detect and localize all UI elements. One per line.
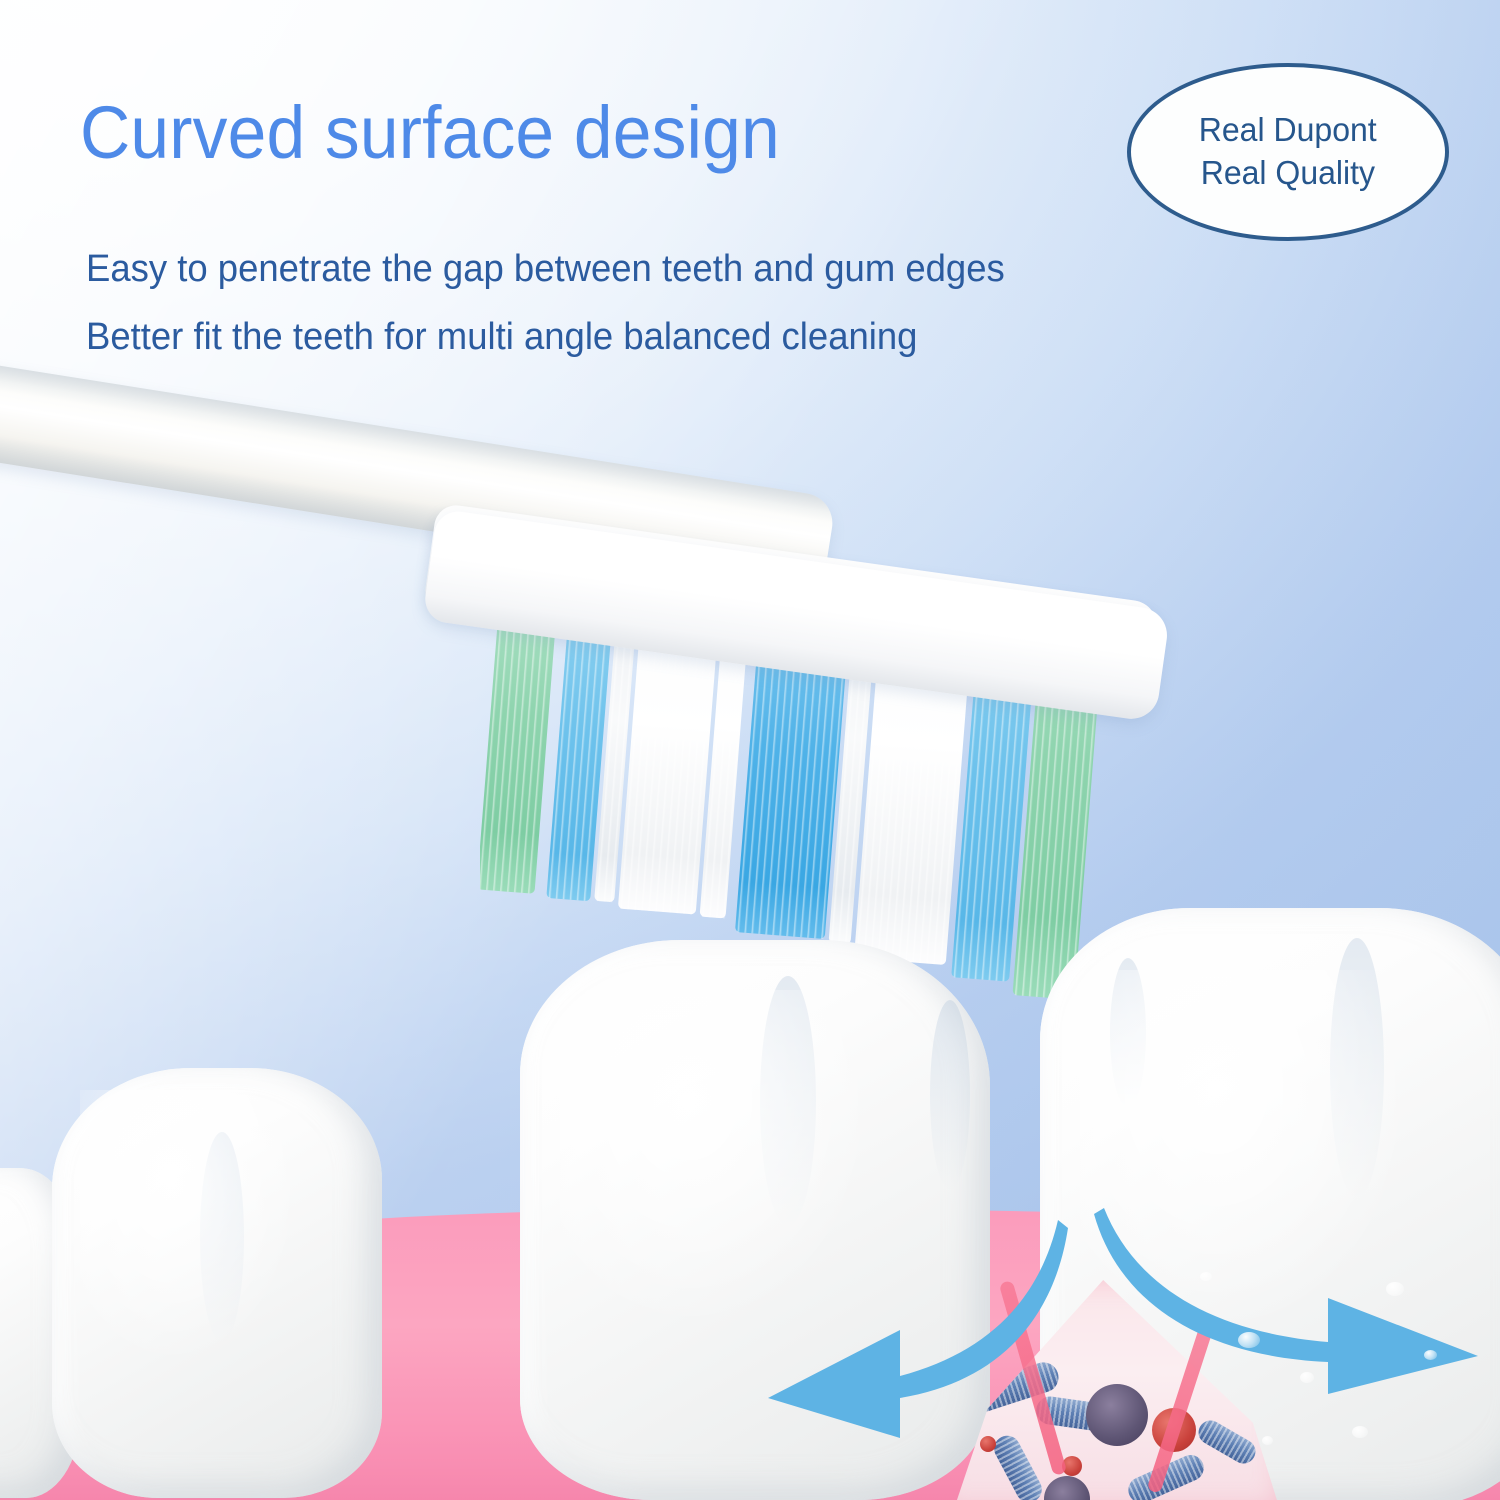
page-title: Curved surface design	[80, 96, 780, 170]
water-droplet	[1300, 1372, 1314, 1383]
water-droplet	[1200, 1272, 1212, 1281]
badge-line-2: Real Quality	[1201, 154, 1375, 193]
subtitle-line-2: Better fit the teeth for multi angle bal…	[86, 318, 917, 356]
water-droplet	[1424, 1350, 1437, 1360]
water-droplet	[1262, 1436, 1273, 1445]
tooth-cusp-groove	[1330, 938, 1384, 1198]
arrow-right-icon	[1090, 1180, 1490, 1400]
water-droplet	[1238, 1332, 1260, 1348]
bacteria-rod	[1194, 1416, 1260, 1468]
quality-badge: Real Dupont Real Quality	[1127, 63, 1449, 241]
arrow-left-icon	[740, 1210, 1070, 1440]
product-feature-image: Curved surface design Easy to penetrate …	[0, 0, 1500, 1500]
bristle-tuft	[480, 600, 557, 894]
water-droplet	[1386, 1282, 1404, 1296]
bacteria-rod	[990, 1431, 1047, 1500]
tooth-cusp-groove	[930, 1000, 970, 1190]
tooth-cusp-groove	[1110, 958, 1146, 1108]
water-droplet	[1352, 1426, 1368, 1438]
subtitle-line-1: Easy to penetrate the gap between teeth …	[86, 250, 1005, 288]
bacteria-spiky	[1044, 1476, 1090, 1500]
badge-line-1: Real Dupont	[1199, 111, 1377, 150]
tooth-cusp-groove	[760, 976, 816, 1226]
teeth-and-gum-illustration	[0, 880, 1500, 1500]
tooth-cusp-groove	[200, 1132, 244, 1342]
